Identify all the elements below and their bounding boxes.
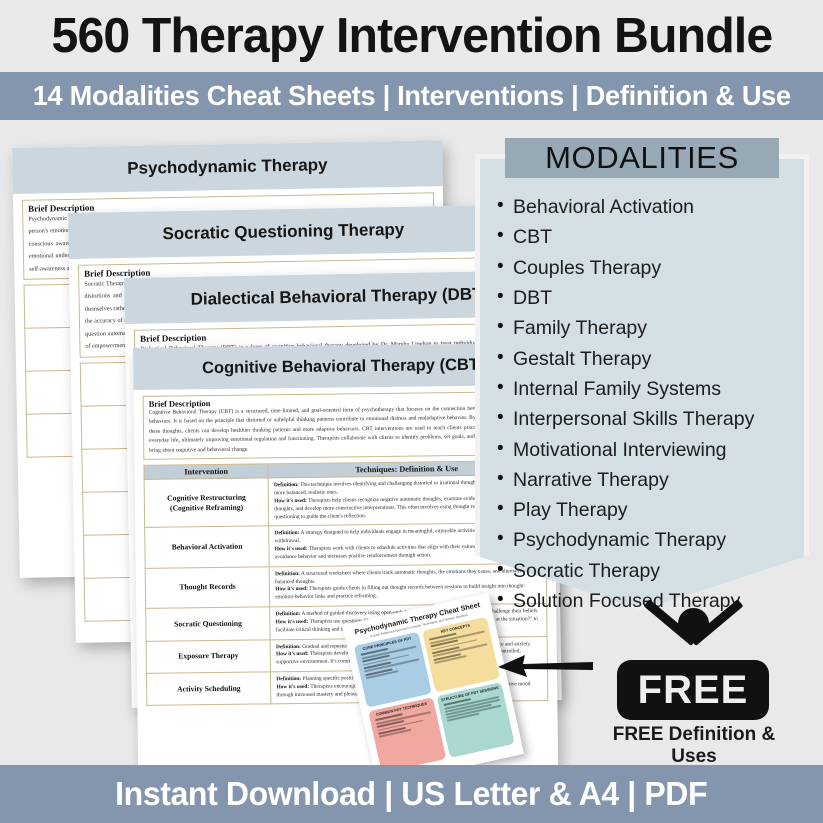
- howused-label: How it's used:: [275, 586, 308, 592]
- free-caption: FREE Definition & Uses For Each Modality: [590, 724, 798, 765]
- definition-label: Definition:: [276, 611, 301, 617]
- title-zone: 560 Therapy Intervention Bundle: [0, 0, 823, 72]
- howused-label: How it's used:: [276, 651, 309, 657]
- intervention-name: Exposure Therapy: [146, 639, 271, 673]
- definition-label: Definition:: [274, 482, 299, 488]
- page-title: 560 Therapy Intervention Bundle: [51, 12, 772, 61]
- poster-canvas: 560 Therapy Intervention Bundle 14 Modal…: [0, 0, 823, 823]
- cheat-quadrant-session-structure: STRUCTURE OF PDT SESSIONS: [437, 682, 515, 758]
- howused-label: How it's used:: [276, 619, 309, 625]
- cheat-sheet-grid: CORE PRINCIPLES OF PDT KEY CONCEPTS COMM…: [354, 617, 515, 765]
- cheat-quadrant-common-techniques: COMMON PDT TECHNIQUES: [368, 697, 446, 765]
- list-item: Interpersonal Skills Therapy: [493, 404, 801, 434]
- sheet-title: Psychodynamic Therapy: [127, 155, 328, 179]
- list-item: DBT: [493, 283, 801, 313]
- list-item: Narrative Therapy: [493, 465, 801, 495]
- intervention-name: Thought Records: [145, 567, 270, 609]
- intervention-name: Cognitive Restructuring (Cognitive Refra…: [144, 478, 269, 528]
- intervention-name: Behavioral Activation: [145, 526, 270, 568]
- sheet-title: Cognitive Behavioral Therapy (CBT): [202, 355, 485, 377]
- footer-text: Instant Download | US Letter & A4 | PDF: [115, 775, 707, 813]
- list-item: Family Therapy: [493, 313, 801, 343]
- list-item: CBT: [493, 222, 801, 252]
- sheet-title: Dialectical Behavioral Therapy (DBT): [190, 284, 488, 309]
- list-item: Motivational Interviewing: [493, 435, 801, 465]
- howused-label: How it's used:: [274, 498, 307, 504]
- definition-label: Definition:: [275, 530, 300, 536]
- free-badge: FREE FREE Definition & Uses For Each Mod…: [596, 608, 791, 765]
- list-item: Behavioral Activation: [493, 192, 801, 222]
- definition-label: Definition:: [276, 643, 301, 649]
- definition-label: Definition:: [275, 571, 300, 577]
- list-item: Psychodynamic Therapy: [493, 525, 801, 555]
- subtitle-bar: 14 Modalities Cheat Sheets | Interventio…: [0, 72, 823, 120]
- modalities-panel: MODALITIES Behavioral Activation CBT Cou…: [475, 154, 809, 610]
- list-item: Internal Family Systems: [493, 374, 801, 404]
- list-item: Play Therapy: [493, 495, 801, 525]
- modalities-heading: MODALITIES: [545, 140, 739, 176]
- free-sign-text: FREE: [638, 670, 749, 710]
- intervention-name: Activity Scheduling: [146, 672, 271, 706]
- modalities-heading-bar: MODALITIES: [505, 138, 779, 178]
- list-item: Couples Therapy: [493, 253, 801, 283]
- free-sign: FREE: [617, 660, 769, 720]
- footer-bar: Instant Download | US Letter & A4 | PDF: [0, 765, 823, 823]
- page-subtitle: 14 Modalities Cheat Sheets | Interventio…: [32, 80, 790, 112]
- pointing-arrow-icon: [497, 653, 593, 679]
- howused-label: How it's used:: [275, 546, 308, 552]
- cheat-quadrant-key-concepts: KEY CONCEPTS: [422, 617, 500, 693]
- sheet-header: Psychodynamic Therapy: [12, 140, 443, 194]
- definition-label: Definition:: [276, 676, 301, 682]
- content-area: Psychodynamic Therapy Brief Description …: [0, 120, 823, 765]
- howused-label: How it's used:: [276, 684, 309, 690]
- sheet-header: Socratic Questioning Therapy: [68, 205, 499, 259]
- modalities-list: Behavioral Activation CBT Couples Therap…: [493, 192, 801, 616]
- list-item: Socratic Therapy: [493, 556, 801, 586]
- column-header-intervention: Intervention: [144, 464, 268, 480]
- sheet-title: Socratic Questioning Therapy: [162, 220, 404, 244]
- free-caption-line1: FREE Definition & Uses: [590, 724, 798, 765]
- list-item: Gestalt Therapy: [493, 344, 801, 374]
- cheat-quadrant-core-principles: CORE PRINCIPLES OF PDT: [354, 632, 432, 708]
- intervention-name: Socratic Questioning: [146, 607, 271, 641]
